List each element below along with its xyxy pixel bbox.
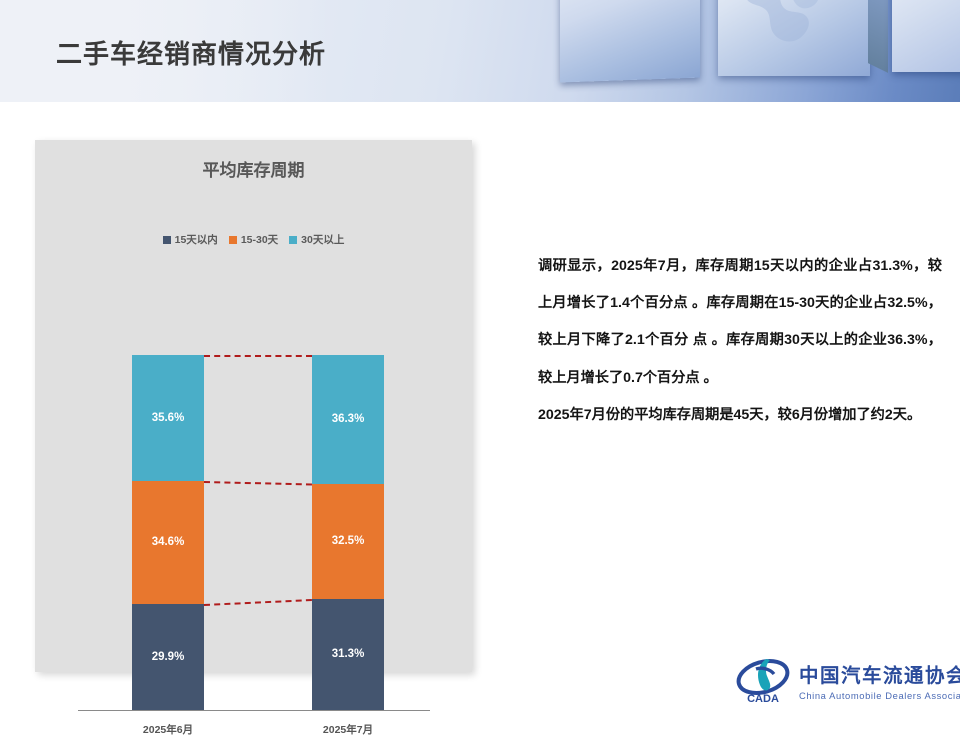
bar-segment-value-label: 36.3% (332, 413, 365, 425)
connector-dashed-line (204, 599, 312, 606)
bar-segment-value-label: 34.6% (152, 536, 185, 548)
chart-panel: 平均库存周期 15天以内 15-30天 30天以上 35.6%34.6%29.9… (35, 140, 472, 672)
stacked-bar-2025-06[interactable]: 35.6%34.6%29.9% (132, 355, 204, 710)
legend-item-over-30-days[interactable]: 30天以上 (289, 232, 344, 247)
world-map-icon (736, 0, 840, 56)
legend-item-15-days-or-less[interactable]: 15天以内 (163, 232, 218, 247)
page-title: 二手车经销商情况分析 (56, 34, 326, 71)
legend-label: 15天以内 (175, 232, 218, 247)
connector-dashed-line (204, 355, 312, 357)
bar-segment[interactable]: 36.3% (312, 355, 384, 484)
bar-segment-value-label: 31.3% (332, 648, 365, 660)
chart-legend: 15天以内 15-30天 30天以上 (35, 232, 472, 247)
bar-segment-value-label: 35.6% (152, 412, 185, 424)
x-axis-tick-label-2025-06: 2025年6月 (113, 722, 223, 737)
chart-title: 平均库存周期 (35, 156, 472, 181)
bar-segment[interactable]: 34.6% (132, 481, 204, 604)
cada-mark-text: CADA (747, 693, 779, 705)
bar-segment[interactable]: 35.6% (132, 355, 204, 481)
logo-name-cn: 中国汽车流通协会 (799, 659, 960, 688)
x-axis-line (78, 710, 430, 711)
commentary-paragraph-1: 调研显示，2025年7月，库存周期15天以内的企业占31.3%，较上月增长了1.… (538, 248, 942, 397)
chart-plot-area: 35.6%34.6%29.9% 36.3%32.5%31.3% 2025年6月 … (35, 290, 472, 672)
legend-swatch-icon (163, 236, 171, 244)
legend-swatch-icon (229, 236, 237, 244)
decorative-cube (560, 0, 700, 82)
bar-segment[interactable]: 29.9% (132, 604, 204, 710)
legend-label: 30天以上 (301, 232, 344, 247)
commentary-paragraph-2: 2025年7月份的平均库存周期是45天，较6月份增加了约2天。 (538, 397, 942, 434)
bar-segment-value-label: 29.9% (152, 651, 185, 663)
bar-segment[interactable]: 31.3% (312, 599, 384, 710)
commentary-text-block: 调研显示，2025年7月，库存周期15天以内的企业占31.3%，较上月增长了1.… (538, 248, 942, 434)
organization-logo: CADA 中国汽车流通协会 China Automobile Dealers A… (736, 652, 948, 708)
logo-text-group: 中国汽车流通协会 China Automobile Dealers Associ… (799, 659, 960, 701)
header-decoration-image (440, 0, 960, 102)
decorative-cube (892, 0, 960, 72)
connector-dashed-line (204, 481, 312, 485)
legend-item-15-to-30-days[interactable]: 15-30天 (229, 232, 278, 247)
page-header: 二手车经销商情况分析 (0, 0, 960, 102)
cada-swoosh-emblem-icon: CADA (736, 655, 790, 705)
x-axis-tick-label-2025-07: 2025年7月 (293, 722, 403, 737)
legend-swatch-icon (289, 236, 297, 244)
legend-label: 15-30天 (241, 232, 278, 247)
decorative-cube (718, 0, 870, 76)
stacked-bar-2025-07[interactable]: 36.3%32.5%31.3% (312, 355, 384, 710)
bar-segment[interactable]: 32.5% (312, 484, 384, 599)
logo-name-en: China Automobile Dealers Association (799, 690, 960, 701)
bar-segment-value-label: 32.5% (332, 535, 365, 547)
